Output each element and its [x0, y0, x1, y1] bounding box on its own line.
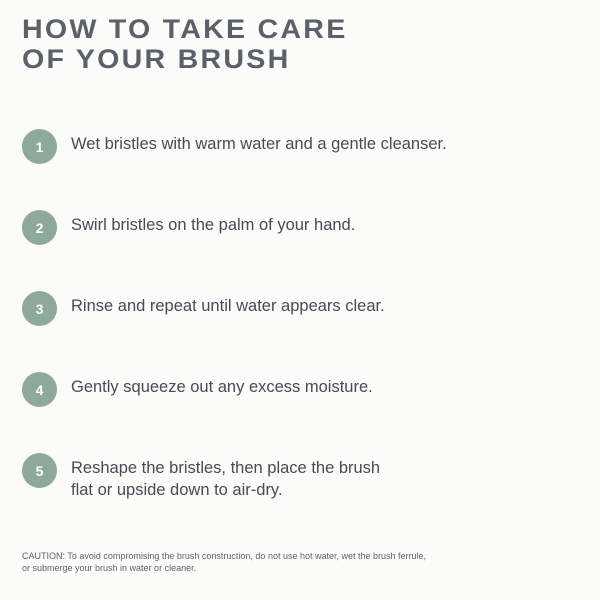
- step-number-badge-5: 5: [22, 453, 57, 488]
- page-title-line-2: OF YOUR BRUSH: [22, 44, 594, 74]
- step-text-1: Wet bristles with warm water and a gentl…: [71, 128, 582, 155]
- step-number-badge-4: 4: [22, 372, 57, 407]
- list-item: 5 Reshape the bristles, then place the b…: [22, 452, 582, 533]
- step-text-5: Reshape the bristles, then place the bru…: [71, 452, 582, 501]
- list-item: 3 Rinse and repeat until water appears c…: [22, 290, 582, 371]
- page-title-line-1: HOW TO TAKE CARE: [22, 14, 594, 44]
- list-item: 2 Swirl bristles on the palm of your han…: [22, 209, 582, 290]
- caution-note: CAUTION: To avoid compromising the brush…: [22, 551, 567, 574]
- step-text-4: Gently squeeze out any excess moisture.: [71, 371, 582, 398]
- step-number-badge-3: 3: [22, 291, 57, 326]
- step-number-badge-2: 2: [22, 210, 57, 245]
- steps-list: 1 Wet bristles with warm water and a gen…: [22, 128, 582, 533]
- step-text-3: Rinse and repeat until water appears cle…: [71, 290, 582, 317]
- list-item: 4 Gently squeeze out any excess moisture…: [22, 371, 582, 452]
- list-item: 1 Wet bristles with warm water and a gen…: [22, 128, 582, 209]
- step-text-2: Swirl bristles on the palm of your hand.: [71, 209, 582, 236]
- care-instructions-poster: HOW TO TAKE CARE OF YOUR BRUSH 1 Wet bri…: [0, 0, 600, 600]
- step-number-badge-1: 1: [22, 129, 57, 164]
- page-title: HOW TO TAKE CARE OF YOUR BRUSH: [22, 14, 562, 74]
